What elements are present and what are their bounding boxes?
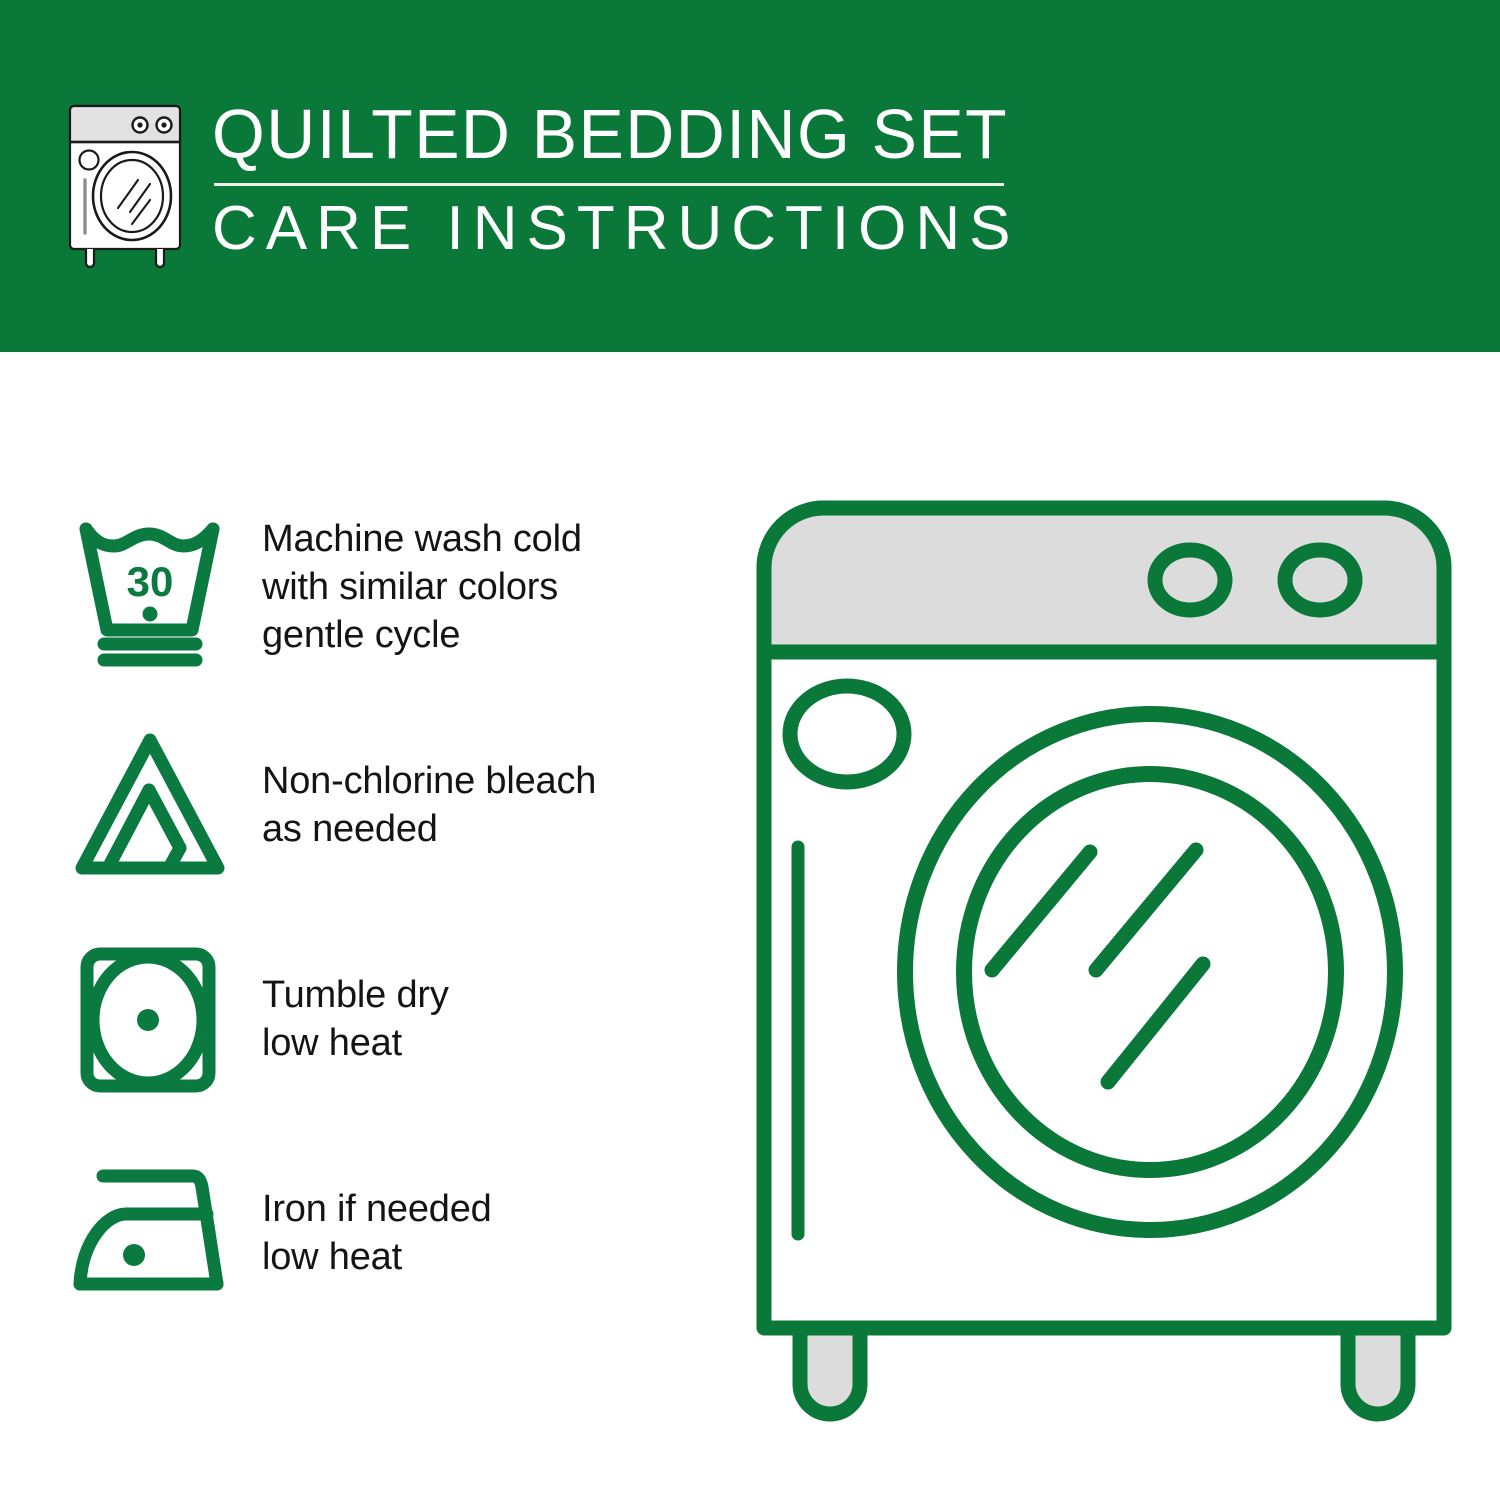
care-caption-bleach: Non-chlorine bleach as needed	[240, 716, 710, 854]
iron-low-heat-symbol	[70, 1148, 240, 1308]
caption-line: low heat	[262, 1234, 710, 1282]
care-row-iron: Iron if needed low heat	[70, 1148, 710, 1364]
page-title: QUILTED BEDDING SET	[212, 100, 1008, 169]
drawer-knob	[790, 686, 904, 782]
caption-line: Non-chlorine bleach	[262, 758, 710, 806]
knob-right	[1285, 550, 1355, 610]
knob-left	[1155, 550, 1225, 610]
header-title-block: QUILTED BEDDING SET CARE INSTRUCTIONS	[212, 96, 1033, 260]
care-caption-machine-wash: Machine wash cold with similar colors ge…	[240, 500, 710, 660]
caption-line: with similar colors	[262, 564, 710, 612]
care-instructions-page: QUILTED BEDDING SET CARE INSTRUCTIONS	[0, 0, 1500, 1500]
wash-temperature-label: 30	[127, 558, 174, 605]
page-subtitle: CARE INSTRUCTIONS	[212, 198, 1033, 260]
care-row-bleach: Non-chlorine bleach as needed	[70, 716, 710, 932]
caption-line: Tumble dry	[262, 972, 710, 1020]
care-row-tumble-dry: Tumble dry low heat	[70, 932, 710, 1148]
washing-machine-icon	[60, 96, 190, 271]
title-divider	[214, 183, 1004, 186]
care-row-machine-wash: 30 Machine wash cold with similar colors…	[70, 500, 710, 716]
non-chlorine-bleach-symbol	[70, 716, 240, 876]
front-load-washing-machine-illustration	[748, 492, 1460, 1422]
caption-line: low heat	[262, 1020, 710, 1068]
tumble-dry-low-symbol	[70, 932, 240, 1092]
care-caption-tumble-dry: Tumble dry low heat	[240, 932, 710, 1068]
caption-line: Machine wash cold	[262, 516, 710, 564]
leg-left	[800, 1328, 860, 1414]
door-inner-ring	[964, 774, 1336, 1170]
care-instruction-list: 30 Machine wash cold with similar colors…	[70, 500, 710, 1364]
caption-line: as needed	[262, 806, 710, 854]
care-caption-iron: Iron if needed low heat	[240, 1148, 710, 1282]
caption-line: gentle cycle	[262, 612, 710, 660]
header-banner: QUILTED BEDDING SET CARE INSTRUCTIONS	[0, 0, 1500, 352]
leg-right	[1348, 1328, 1408, 1414]
header-content: QUILTED BEDDING SET CARE INSTRUCTIONS	[60, 96, 1020, 276]
machine-wash-30-gentle-symbol: 30	[70, 500, 240, 660]
caption-line: Iron if needed	[262, 1186, 710, 1234]
